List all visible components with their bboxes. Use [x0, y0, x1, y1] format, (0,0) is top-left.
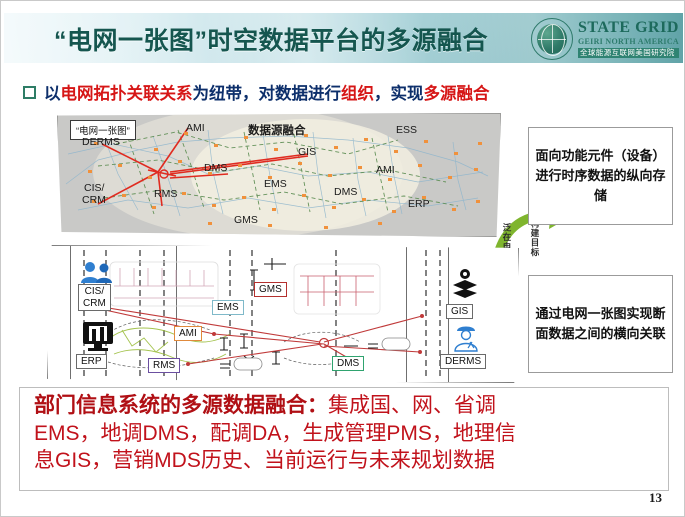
devbox-gis: GIS — [446, 304, 473, 319]
devbox-ems: EMS — [212, 300, 244, 315]
summary-text-block: 部门信息系统的多源数据融合：集成国、网、省调 EMS，地调DMS，配调DA，生成… — [19, 387, 669, 491]
node-label-ems: EMS — [264, 178, 287, 190]
slide: “电网一张图”时空数据平台的多源融合 STATE GRID GEIRI NORT… — [0, 0, 685, 517]
node-label-erp: ERP — [408, 198, 430, 210]
bullet-seg-1: 以 — [44, 85, 61, 103]
state-grid-emblem-icon — [531, 18, 573, 60]
node-label-dms-2: DMS — [334, 186, 357, 198]
node-label-rms: RMS — [154, 188, 177, 200]
bullet-seg-3: 为纽带，对数据进行 — [193, 85, 342, 103]
layers-pin-icon — [448, 268, 482, 305]
brand-logo: STATE GRID GEIRI NORTH AMERICA 全球能源互联网美国… — [531, 15, 679, 63]
summary-line-3: 息GIS，营销MDS历史、当前运行与未来规划数据 — [34, 447, 658, 475]
worker-icon — [450, 322, 482, 357]
devbox-ami: AMI — [174, 326, 202, 341]
page-title: “电网一张图”时空数据平台的多源融合 — [54, 21, 488, 57]
summary-line-2: EMS，地调DMS，配调DA，生成管理PMS，地理信 — [34, 420, 658, 448]
devbox-gms: GMS — [254, 282, 287, 297]
devbox-dms: DMS — [332, 356, 364, 371]
node-label-ami-2: AMI — [376, 164, 395, 176]
node-label-gms: GMS — [234, 214, 258, 226]
brand-text: STATE GRID GEIRI NORTH AMERICA 全球能源互联网美国… — [578, 20, 679, 58]
panel-title-data-source-fusion: 数据源融合 — [248, 122, 306, 138]
data-source-fusion-panel: “电网一张图” 数据源融合 DERMS AMI CIS/ CRM RMS DMS… — [57, 113, 501, 237]
slide-header: “电网一张图”时空数据平台的多源融合 STATE GRID GEIRI NORT… — [4, 13, 683, 63]
bullet-seg-2-highlight: 电网拓扑关联关系 — [61, 85, 193, 103]
sidebox-horizontal-association: 通过电网一张图实现断面数据之间的横向关联 — [528, 275, 673, 373]
sidebox-vertical-storage: 面向功能元件（设备）进行时序数据的纵向存储 — [528, 127, 673, 225]
summary-line-1-rest: 集成国、网、省调 — [328, 394, 496, 417]
node-label-dms-1: DMS — [204, 162, 227, 174]
bullet-text: 以电网拓扑关联关系为纽带，对数据进行组织，实现多源融合 — [44, 80, 490, 104]
node-label-ess: ESS — [396, 124, 417, 136]
brand-unit-cn: 全球能源互联网美国研究院 — [578, 48, 679, 58]
devbox-derms: DERMS — [440, 354, 486, 369]
node-label-derms: DERMS — [82, 136, 120, 148]
summary-line-1: 部门信息系统的多源数据融合：集成国、网、省调 — [34, 392, 658, 420]
square-bullet-icon — [23, 86, 36, 99]
bullet-line: 以电网拓扑关联关系为纽带，对数据进行组织，实现多源融合 — [23, 79, 673, 105]
devbox-rms: RMS — [148, 358, 180, 373]
devbox-cis-crm: CIS/CRM — [78, 284, 111, 311]
node-label-ami-1: AMI — [186, 122, 205, 134]
page-number: 13 — [649, 490, 662, 506]
building-monitor-icon — [80, 320, 116, 357]
bullet-seg-5: ，实现 — [374, 85, 424, 103]
node-label-gis: GIS — [298, 146, 316, 158]
node-label-crm: CRM — [82, 194, 106, 206]
summary-line-1-bold: 部门信息系统的多源数据融合： — [34, 394, 328, 417]
bullet-seg-6-highlight: 多源融合 — [424, 85, 490, 103]
brand-name: STATE GRID — [578, 20, 679, 36]
node-label-cis: CIS/ — [84, 182, 104, 194]
bullet-seg-4-highlight: 组织 — [341, 85, 374, 103]
devbox-erp: ERP — [76, 354, 107, 369]
physical-grid-panel: CIS/CRM ERP EMS GMS AMI RMS DMS — [47, 245, 519, 383]
brand-unit: GEIRI NORTH AMERICA — [578, 38, 679, 46]
